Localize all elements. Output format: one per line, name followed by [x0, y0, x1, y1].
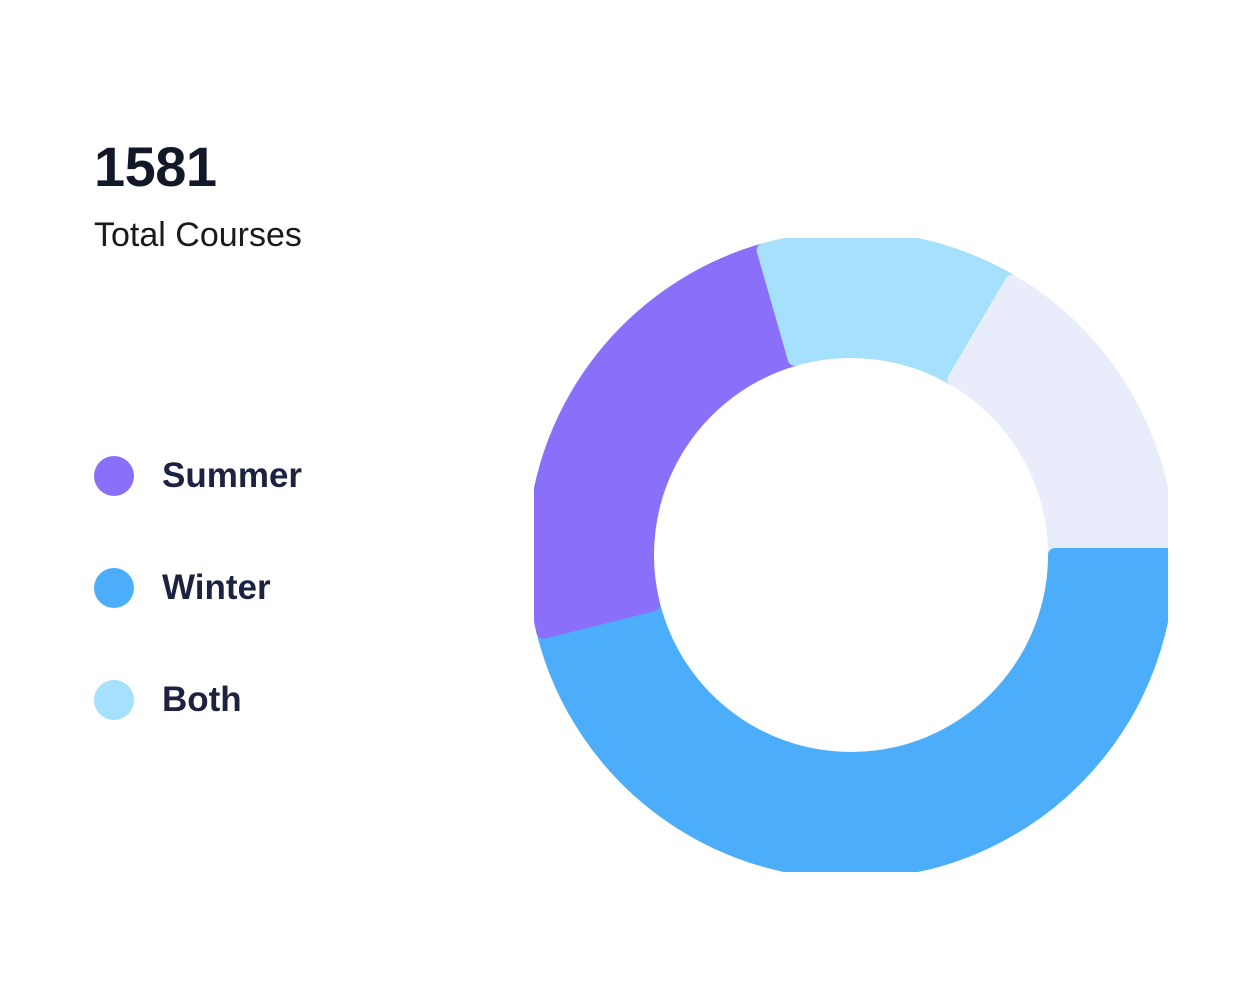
- legend-swatch-winter-icon: [94, 568, 134, 608]
- legend-label-summer: Summer: [162, 456, 302, 496]
- total-courses-value: 1581: [94, 138, 494, 197]
- donut-chart-svg: [534, 238, 1168, 872]
- legend-item-summer[interactable]: Summer: [94, 420, 494, 532]
- donut-chart: [534, 238, 1168, 872]
- total-courses-label: Total Courses: [94, 215, 494, 256]
- donut-segment-track-1[interactable]: [955, 282, 1168, 555]
- legend-label-both: Both: [162, 680, 242, 720]
- donut-segment-group: [534, 238, 1168, 872]
- donut-segment-summer-3[interactable]: [534, 250, 795, 631]
- legend-item-both[interactable]: Both: [94, 644, 494, 756]
- legend-swatch-summer-icon: [94, 456, 134, 496]
- legend-label-winter: Winter: [162, 568, 271, 608]
- courses-summary-card: 1581 Total Courses Summer Winter Both: [0, 0, 1250, 1000]
- chart-legend: Summer Winter Both: [94, 420, 494, 756]
- legend-item-winter[interactable]: Winter: [94, 532, 494, 644]
- legend-swatch-both-icon: [94, 680, 134, 720]
- summary-block: 1581 Total Courses: [94, 138, 494, 256]
